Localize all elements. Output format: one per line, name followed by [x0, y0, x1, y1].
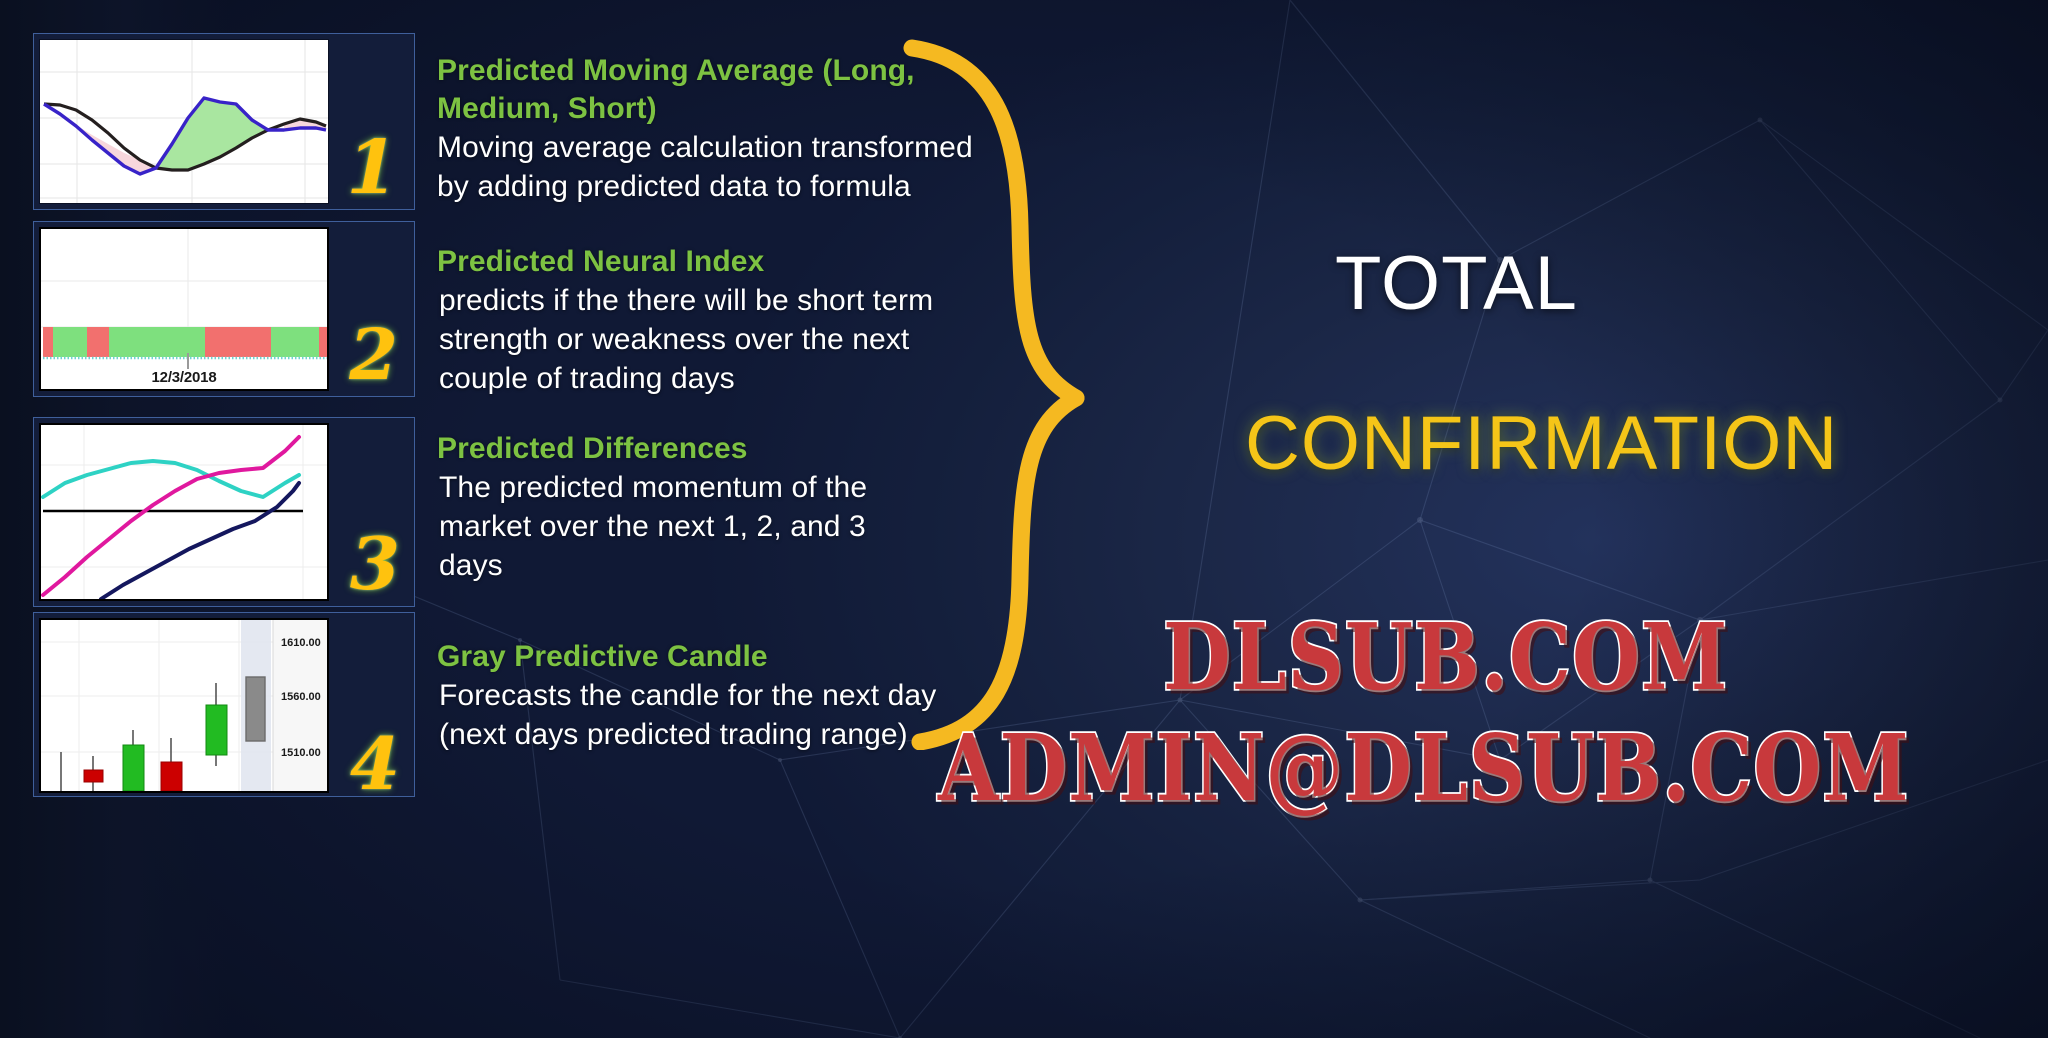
watermark-email: ADMIN@DLSUB.COM	[938, 715, 1910, 822]
callout-total: TOTAL	[1335, 240, 1578, 327]
svg-text:1510.00: 1510.00	[281, 747, 321, 759]
panel-number-4: 4	[350, 728, 400, 800]
feature-body-2: predicts if the there will be short term…	[437, 281, 957, 398]
feature-heading-4: Gray Predictive Candle	[437, 638, 937, 676]
chart-date-label: 12/3/2018	[41, 369, 327, 386]
svg-text:1560.00: 1560.00	[281, 691, 321, 703]
chart-panel-predicted-differences[interactable]: 3	[33, 417, 415, 607]
chart-canvas-differences	[39, 423, 329, 601]
predicted-differences-plot	[41, 425, 327, 599]
svg-text:1610.00: 1610.00	[281, 637, 321, 649]
feature-body-3: The predicted momentum of the market ove…	[437, 468, 907, 585]
chart-canvas-moving-average	[39, 39, 329, 204]
chart-panel-predicted-moving-average[interactable]: 1	[33, 33, 415, 210]
panel-number-1: 1	[347, 131, 399, 205]
panel-number-3: 3	[350, 528, 400, 600]
chart-canvas-neural-index: 12/3/2018	[39, 227, 329, 391]
panel-number-2: 2	[349, 320, 398, 390]
feature-heading-3: Predicted Differences	[437, 430, 907, 468]
callout-confirmation: CONFIRMATION	[1245, 400, 1838, 487]
chart-canvas-candles: 1610.00 1560.00 1510.00	[39, 618, 329, 793]
feature-text-block-2: Predicted Neural Index predicts if the t…	[437, 243, 957, 398]
chart-panel-predicted-neural-index[interactable]: 12/3/2018 2	[33, 221, 415, 397]
watermark-domain: DLSUB.COM	[1163, 604, 1728, 711]
chart-panel-gray-predictive-candle[interactable]: 1610.00 1560.00 1510.00	[33, 612, 415, 797]
feature-heading-2: Predicted Neural Index	[437, 243, 957, 281]
feature-text-block-3: Predicted Differences The predicted mome…	[437, 430, 907, 585]
feature-text-block-4: Gray Predictive Candle Forecasts the can…	[437, 638, 937, 754]
candlestick-plot: 1610.00 1560.00 1510.00	[41, 620, 327, 791]
feature-body-4: Forecasts the candle for the next day (n…	[437, 676, 937, 754]
moving-average-plot	[40, 40, 329, 204]
neural-index-plot	[41, 229, 327, 389]
